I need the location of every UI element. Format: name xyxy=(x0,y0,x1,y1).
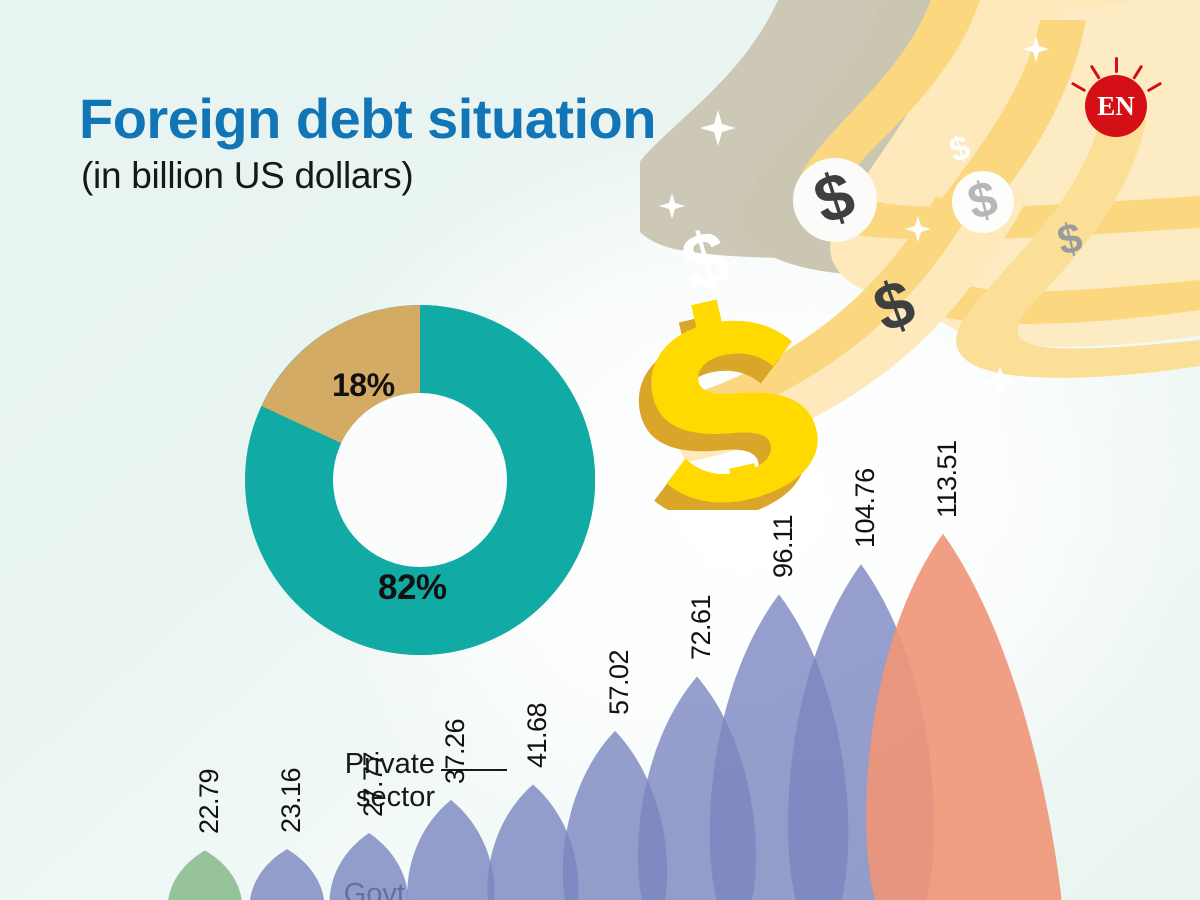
logo-ray-icon xyxy=(1132,65,1143,80)
petal-value-label: 72.61 xyxy=(686,595,717,660)
svg-text:$: $ xyxy=(805,156,863,238)
debt-petal-chart: 22.7923.1627.7737.2641.6857.0272.6196.11… xyxy=(0,430,1200,900)
dollar-sign-icon: $ xyxy=(673,212,739,309)
svg-text:$: $ xyxy=(864,264,924,346)
svg-text:$: $ xyxy=(945,128,975,170)
infographic-canvas: $ $ $ $ $ $ xyxy=(0,0,1200,900)
petal-bar[interactable] xyxy=(250,849,325,900)
logo-ray-icon xyxy=(1071,82,1086,93)
petal-value-label: 104.76 xyxy=(850,469,881,549)
sparkle-icon xyxy=(700,110,736,146)
ribbon-stripe-yellow-3 xyxy=(956,120,1200,378)
petal-series-svg xyxy=(0,430,1200,900)
svg-text:$: $ xyxy=(673,212,739,309)
petal-value-label: 113.51 xyxy=(932,440,963,518)
petal-value-label: 96.11 xyxy=(768,515,799,578)
ribbon-band-yellow-pale-2 xyxy=(920,0,1200,347)
sparkle-icon xyxy=(905,216,931,242)
sparkle-icon xyxy=(1023,36,1049,62)
dollar-sign-icon: $ xyxy=(1053,213,1087,264)
petal-value-label: 27.77 xyxy=(358,752,389,817)
sparkle-icon xyxy=(659,193,685,219)
logo-text: EN xyxy=(1097,93,1135,120)
page-subtitle: (in billion US dollars) xyxy=(81,154,656,198)
petal-value-label: 37.26 xyxy=(440,719,471,784)
donut-value-private: 18% xyxy=(332,367,395,404)
logo-ray-icon xyxy=(1115,57,1118,73)
petal-value-label: 41.68 xyxy=(522,703,553,768)
logo-ray-icon xyxy=(1147,82,1162,93)
page-title: Foreign debt situation xyxy=(79,90,656,148)
headline-block: Foreign debt situation (in billion US do… xyxy=(79,90,656,198)
dollar-sign-icon: $ xyxy=(864,264,924,346)
ribbon-stripe-yellow-2 xyxy=(896,20,1200,324)
ribbon-band-gray-2 xyxy=(741,0,1200,277)
petal-bar[interactable] xyxy=(330,833,409,900)
petal-bar[interactable] xyxy=(168,850,243,900)
en-logo[interactable]: EN xyxy=(1085,75,1147,137)
dollar-coin-icon: $ xyxy=(945,164,1020,239)
ribbon-band-yellow-pale xyxy=(830,0,1200,308)
petal-value-label: 23.16 xyxy=(276,768,307,833)
petal-bar[interactable] xyxy=(407,800,494,900)
sparkle-icon xyxy=(984,366,1016,398)
svg-text:$: $ xyxy=(962,169,1003,230)
svg-text:$: $ xyxy=(1053,213,1087,264)
logo-ray-icon xyxy=(1090,65,1101,80)
petal-bar[interactable] xyxy=(866,534,1063,900)
dollar-sign-icon: $ xyxy=(945,128,975,170)
dollar-coin-icon: $ xyxy=(782,147,888,253)
petal-value-label: 57.02 xyxy=(604,650,635,715)
petal-value-label: 22.79 xyxy=(194,769,225,834)
logo-badge: EN xyxy=(1085,75,1147,137)
